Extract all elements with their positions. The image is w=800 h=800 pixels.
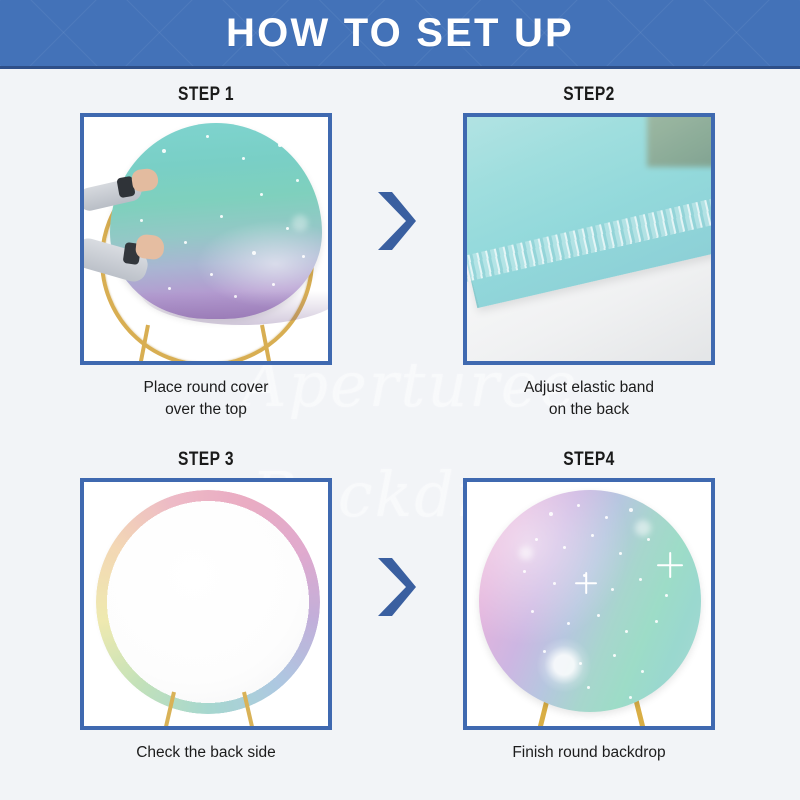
step-3-caption-line-1: Check the back side [80, 742, 332, 764]
step-4-image-frame [463, 478, 715, 730]
finished-backdrop-disc [479, 490, 701, 712]
step-1-label: STEP 1 [103, 84, 310, 107]
step-4-caption: Finish round backdrop [463, 742, 715, 764]
step-card-2: STEP2 Adjust elastic band on the back [463, 84, 715, 422]
sparkle-glint-1 [575, 572, 597, 594]
header-banner: HOW TO SET UP [0, 0, 800, 66]
sparkle-glint-2 [657, 552, 683, 578]
step-1-image-frame [80, 113, 332, 365]
arrow-step3-to-step4 [372, 556, 418, 618]
step-2-caption-line-2: on the back [463, 399, 715, 421]
step-1-caption: Place round cover over the top [80, 377, 332, 422]
step-2-caption: Adjust elastic band on the back [463, 377, 715, 422]
photo-finished-backdrop [467, 482, 711, 726]
photo-elastic-hem [467, 117, 711, 361]
how-to-set-up-infographic: HOW TO SET UP Aperturee Backdrop STEP 1 [0, 0, 800, 800]
header-underline [0, 66, 800, 69]
step-card-3: STEP 3 Check the back side [80, 449, 332, 764]
pastel-rainbow-rim [96, 490, 320, 714]
photo-back-side [84, 482, 328, 726]
step-3-image-frame [80, 478, 332, 730]
step-2-caption-line-1: Adjust elastic band [463, 377, 715, 399]
step-3-caption: Check the back side [80, 742, 332, 764]
arrow-step1-to-step2 [372, 190, 418, 252]
lens-flare-glow [537, 638, 591, 692]
step-4-label: STEP4 [486, 449, 693, 472]
photo-draping-cover [84, 117, 328, 361]
step-2-image-frame [463, 113, 715, 365]
step-3-label: STEP 3 [103, 449, 310, 472]
step-1-caption-line-2: over the top [80, 399, 332, 421]
background-blur-corner [647, 113, 715, 167]
step-4-caption-line-1: Finish round backdrop [463, 742, 715, 764]
gradient-cover-cloth [110, 123, 322, 319]
step-card-1: STEP 1 [80, 84, 332, 422]
step-2-label: STEP2 [486, 84, 693, 107]
step-card-4: STEP4 [463, 449, 715, 764]
page-title: HOW TO SET UP [226, 11, 574, 56]
step-1-caption-line-1: Place round cover [80, 377, 332, 399]
